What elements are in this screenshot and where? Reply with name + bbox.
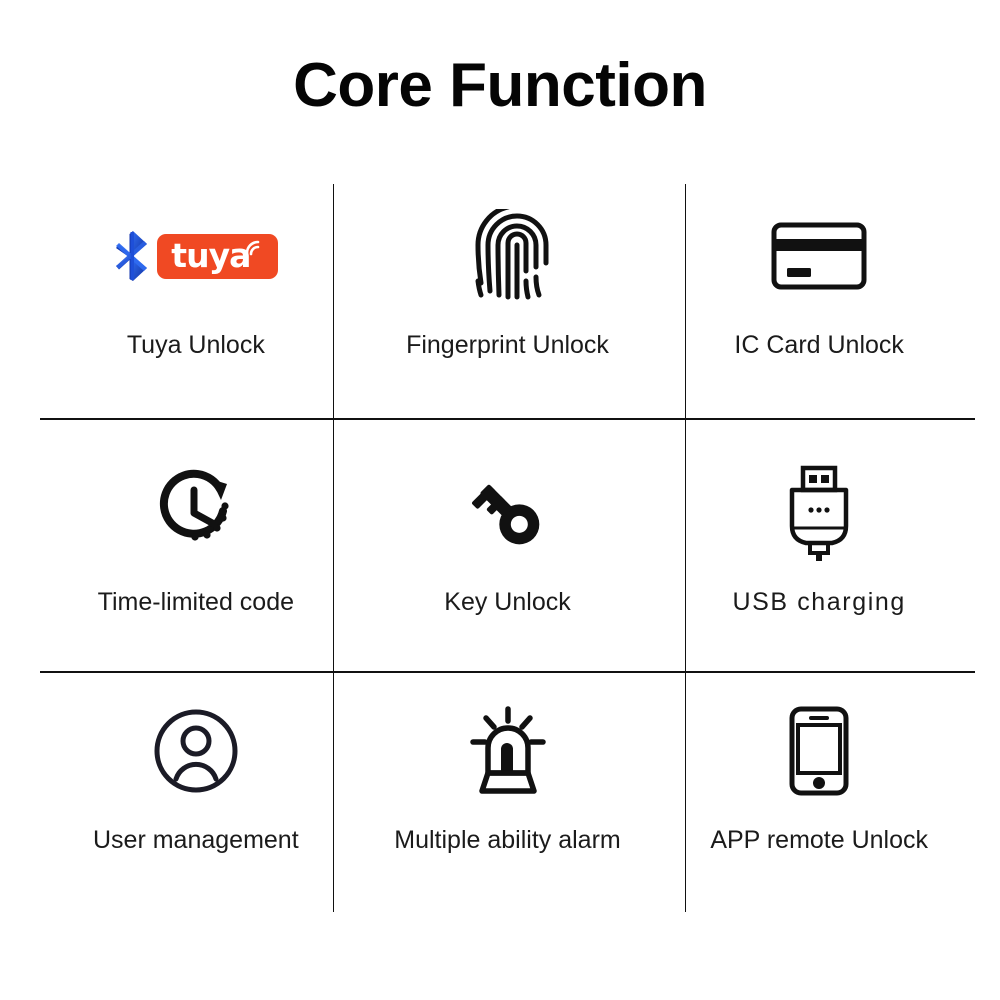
feature-cell-user-management[interactable]: User management [40,669,352,912]
feature-label-ic-card-unlock: IC Card Unlock [734,330,904,360]
feature-row: Time-limited code [40,427,975,670]
feature-label-tuya-unlock: Tuya Unlock [127,330,265,360]
feature-cell-multiple-ability-alarm[interactable]: Multiple ability alarm [352,669,664,912]
feature-cell-ic-card-unlock[interactable]: IC Card Unlock [663,184,975,427]
clock-arrow-icon [149,453,243,573]
tuya-badge-label: tuya [171,239,250,272]
feature-cell-tuya-unlock[interactable]: tuya Tuya Unlock [40,184,352,427]
feature-label-usb-charging: USB charging [732,587,905,617]
feature-label-time-limited-code: Time-limited code [98,587,294,617]
feature-label-fingerprint-unlock: Fingerprint Unlock [406,330,609,360]
feature-cell-usb-charging[interactable]: USB charging [663,427,975,670]
feature-cell-key-unlock[interactable]: Key Unlock [352,427,664,670]
tuya-badge: tuya [157,234,278,279]
key-icon [462,453,554,573]
feature-label-key-unlock: Key Unlock [444,587,570,617]
feature-cell-app-remote-unlock[interactable]: APP remote Unlock [663,669,975,912]
feature-grid: tuya Tuya Unlock [40,184,975,912]
feature-row: User management [40,669,975,912]
smartphone-icon [788,691,850,811]
usb-plug-icon [783,453,855,573]
siren-alarm-icon [464,691,552,811]
core-function-page: Core Function [0,0,1000,1000]
bluetooth-icon [113,229,155,283]
feature-cell-fingerprint-unlock[interactable]: Fingerprint Unlock [352,184,664,427]
feature-row: tuya Tuya Unlock [40,184,975,427]
wifi-signal-icon [244,238,266,258]
feature-label-app-remote-unlock: APP remote Unlock [710,825,928,855]
tuya-logo-icon: tuya [113,196,278,316]
feature-cell-time-limited-code[interactable]: Time-limited code [40,427,352,670]
feature-label-user-management: User management [93,825,299,855]
fingerprint-icon [465,196,551,316]
page-title: Core Function [0,52,1000,120]
ic-card-icon [771,196,867,316]
user-circle-icon [152,691,240,811]
feature-label-multiple-ability-alarm: Multiple ability alarm [394,825,620,855]
